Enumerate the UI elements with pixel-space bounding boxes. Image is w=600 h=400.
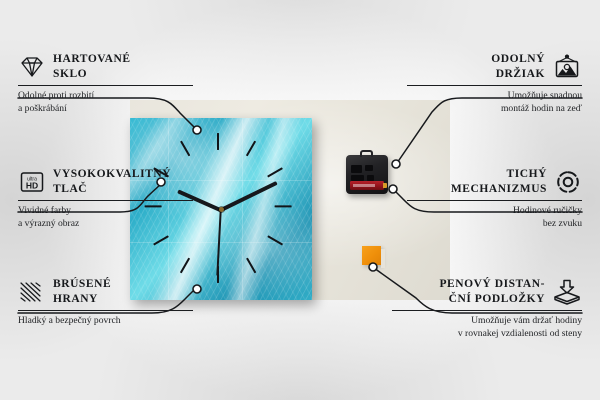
mechanism-hanger [360,150,373,157]
feature-title-line2: SKLO [53,67,131,82]
feature-title-line2: DRŽIAK [491,67,545,82]
feature-title-line2: ČNÍ PODLOŽKY [439,292,545,307]
feature-rule [18,310,193,311]
clock-center-hub [219,207,224,212]
feature-desc-line2: bez zvuku [407,218,582,231]
feature-desc-line2: a poškrábání [18,103,193,116]
feature-desc-line1: Hladký a bezpečný povrch [18,315,193,328]
product-feature-infographic: HARTOVANÉ SKLO Odolné proti rozbití a po… [0,0,600,400]
feature-rule [392,310,582,311]
feature-desc-line2: v rovnakej vzdialenosti od steny [392,328,582,341]
clock-tick [275,205,292,207]
print-seam [242,118,243,300]
feature-title-line1: BRÚSENÉ [53,277,111,292]
feature-title-line2: MECHANIZMUS [451,182,547,197]
mechanism-slot [365,165,373,171]
ultra-hd-icon: ultra HD [18,170,46,194]
gear-icon [554,169,582,195]
diamond-icon [18,55,46,79]
feature-desc-line1: Vividné farby [18,205,193,218]
feature-header: TICHÝ MECHANIZMUS [407,167,582,196]
feature-header: PENOVÝ DISTAN- ČNÍ PODLOŽKY [392,277,582,306]
feature-durable-holder: ODOLNÝ DRŽIAK Umožňuje snadnou montáž ho… [407,52,582,115]
feature-header: ultra HD VYSOKOKVALITNÝ TLAČ [18,167,193,196]
feature-title-line1: ODOLNÝ [491,52,545,67]
feature-rule [407,200,582,201]
feature-title-line1: TICHÝ [451,167,547,182]
battery [350,181,384,190]
bevelled-edge-icon [18,280,46,304]
battery-label [353,184,375,187]
feature-title-line1: HARTOVANÉ [53,52,131,67]
feature-title-line1: VYSOKOKVALITNÝ [53,167,171,182]
feature-polished-edges: BRÚSENÉ HRANY Hladký a bezpečný povrch [18,277,193,328]
feature-title-line2: TLAČ [53,182,171,197]
feature-desc-line1: Hodinové ručičky [407,205,582,218]
feature-rule [18,85,193,86]
feature-high-quality-print: ultra HD VYSOKOKVALITNÝ TLAČ Vividné far… [18,167,193,230]
feature-silent-mechanism: TICHÝ MECHANIZMUS Hodinové ručičky bez z… [407,167,582,230]
feature-desc-line2: montáž hodin na zeď [407,103,582,116]
feature-desc-line1: Umožňuje vám držať hodiny [392,315,582,328]
feature-rule [18,200,193,201]
feature-foam-spacers: PENOVÝ DISTAN- ČNÍ PODLOŽKY Umožňuje vám… [392,277,582,340]
feature-header: HARTOVANÉ SKLO [18,52,193,81]
wall-mount-picture-icon [552,54,582,79]
mechanism-slot [351,165,362,173]
feature-title-line2: HRANY [53,292,111,307]
feature-header: ODOLNÝ DRŽIAK [407,52,582,81]
feature-desc-line1: Odolné proti rozbití [18,90,193,103]
foam-spacer-pad [362,246,381,265]
ultra-hd-icon-main: HD [26,180,38,190]
feature-title-line1: PENOVÝ DISTAN- [439,277,545,292]
feature-rule [407,85,582,86]
press-down-layers-icon [552,279,582,305]
feature-desc-line1: Umožňuje snadnou [407,90,582,103]
clock-mechanism [346,155,388,194]
feature-desc-line2: a výrazný obraz [18,218,193,231]
feature-tempered-glass: HARTOVANÉ SKLO Odolné proti rozbití a po… [18,52,193,115]
clock-tick [217,133,219,150]
feature-header: BRÚSENÉ HRANY [18,277,193,306]
